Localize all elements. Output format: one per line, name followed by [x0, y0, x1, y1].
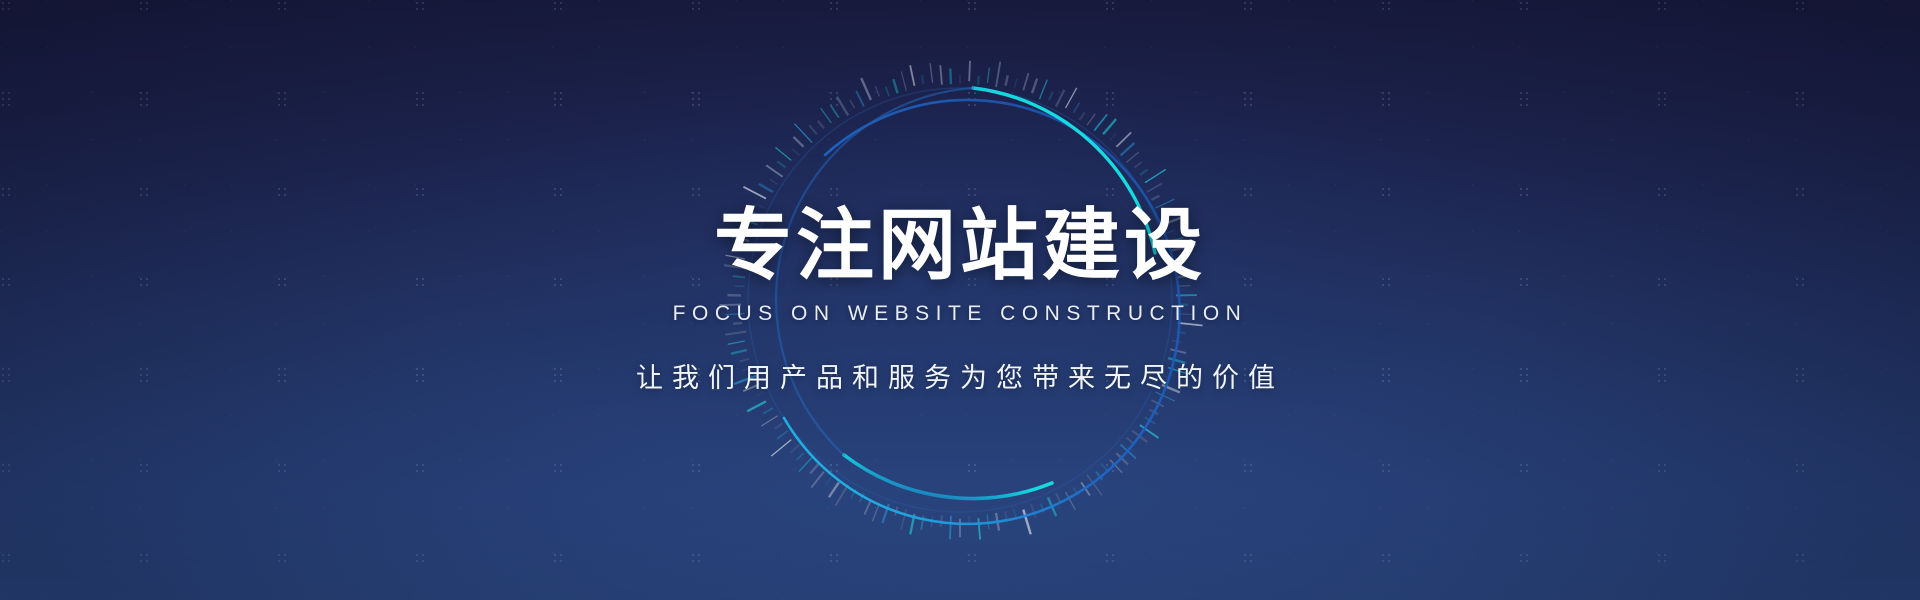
page-title: 专注网站建设	[714, 206, 1206, 284]
hero-banner: 专注网站建设 FOCUS ON WEBSITE CONSTRUCTION 让我们…	[0, 0, 1920, 600]
tagline-chinese: 让我们用产品和服务为您带来无尽的价值	[636, 356, 1284, 395]
banner-copy: 专注网站建设 FOCUS ON WEBSITE CONSTRUCTION 让我们…	[0, 0, 1920, 600]
subtitle-english: FOCUS ON WEBSITE CONSTRUCTION	[673, 302, 1248, 326]
